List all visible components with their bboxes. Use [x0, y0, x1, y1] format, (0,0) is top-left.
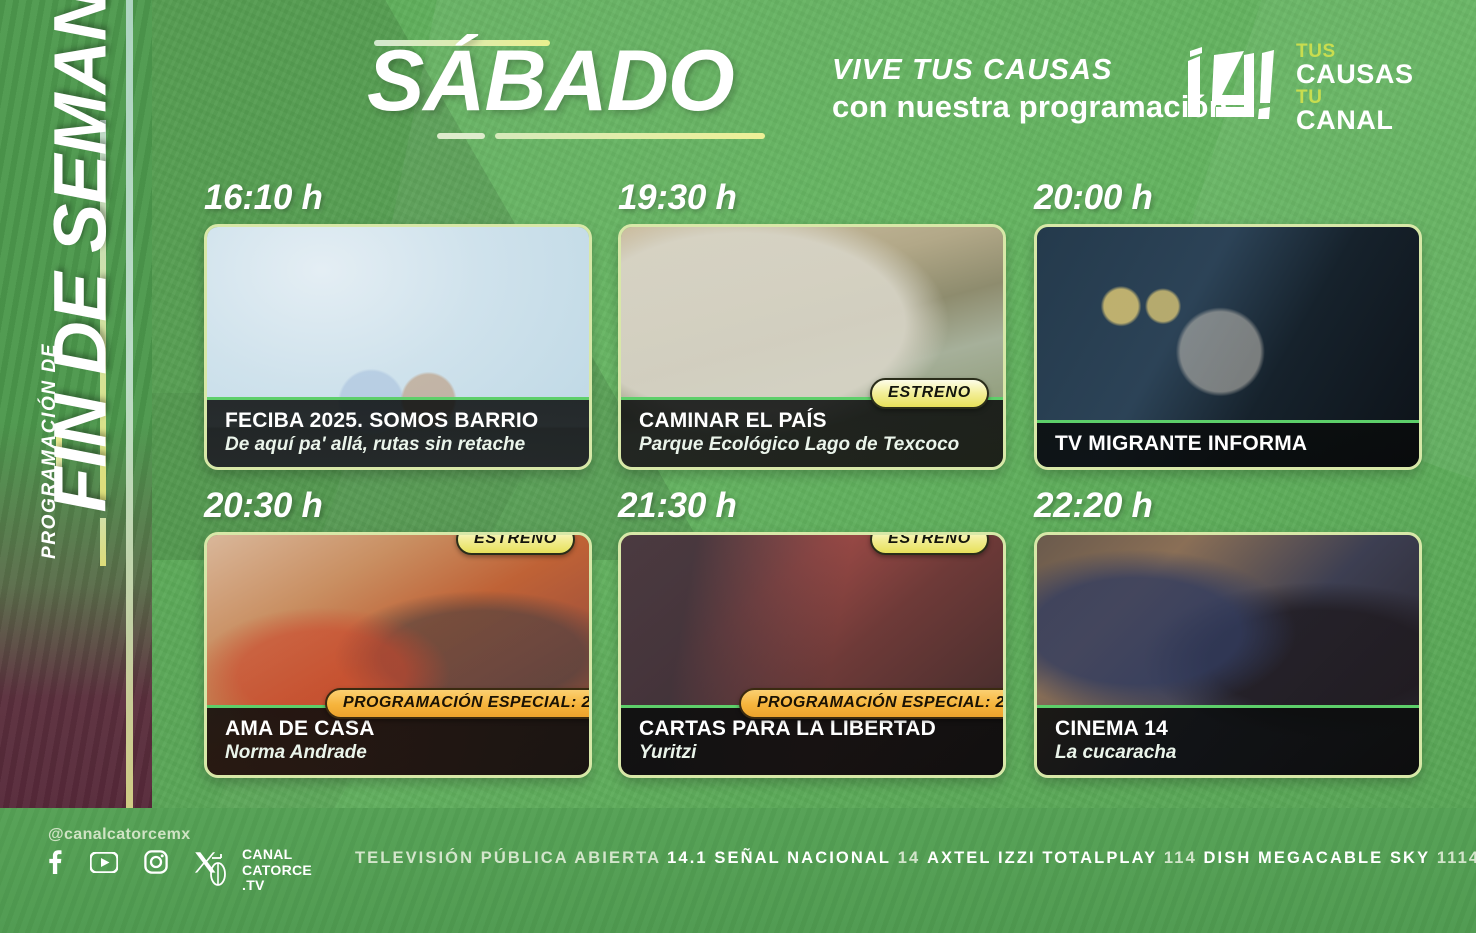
program-poster: PROGRAMACIÓN DE FIN DE SEMANA SÁBADO VIV…	[0, 0, 1476, 933]
social-handle: @canalcatorcemx	[48, 826, 191, 844]
sidebar-big-label: FIN DE SEMANA	[38, 23, 123, 813]
channel-logo: TUS CAUSAS TU CANAL	[1182, 42, 1414, 134]
website-block[interactable]: CANAL CATORCE .TV	[208, 846, 312, 895]
program-thumbnail[interactable]: FECIBA 2025. SOMOS BARRIO De aquí pa' al…	[204, 224, 592, 470]
carriers-number-1114: 1114	[1437, 849, 1476, 867]
program-subtitle: La cucaracha	[1055, 742, 1405, 764]
website-line-3: .TV	[242, 878, 312, 894]
instagram-icon[interactable]	[144, 850, 168, 874]
program-title: CINEMA 14	[1055, 717, 1405, 741]
carriers-number-14: 14	[898, 849, 921, 867]
page-title: SÁBADO	[367, 36, 734, 126]
program-time: 20:00 h	[1034, 178, 1422, 218]
program-title: FECIBA 2025. SOMOS BARRIO	[225, 409, 575, 433]
tagline-line-2: con nuestra programación	[832, 88, 1228, 127]
program-thumbnail[interactable]: CINEMA 14 La cucaracha	[1034, 532, 1422, 778]
program-titlebar: FECIBA 2025. SOMOS BARRIO De aquí pa' al…	[207, 397, 589, 467]
sidebar-weekend-banner: PROGRAMACIÓN DE FIN DE SEMANA	[0, 0, 152, 812]
estreno-badge: ESTRENO	[870, 378, 989, 409]
social-links	[44, 850, 217, 874]
program-card[interactable]: 20:00 h TV MIGRANTE INFORMA	[1034, 178, 1422, 470]
program-title: AMA DE CASA	[225, 717, 575, 741]
youtube-icon[interactable]	[90, 852, 118, 873]
logo-word-canal: CANAL	[1296, 107, 1414, 134]
tagline: VIVE TUS CAUSAS con nuestra programación	[832, 52, 1228, 127]
carriers-axtel: AXTEL IZZI TOTALPLAY	[927, 849, 1157, 867]
carriers-line: TELEVISIÓN PÚBLICA ABIERTA 14.1 SEÑAL NA…	[355, 849, 1476, 868]
program-subtitle: Yuritzi	[639, 742, 989, 764]
tagline-line-1: VIVE TUS CAUSAS	[832, 52, 1228, 88]
estreno-badge: ESTRENO	[870, 532, 989, 555]
carriers-prefix: TELEVISIÓN PÚBLICA ABIERTA	[355, 849, 660, 867]
sidebar-text-wrap: PROGRAMACIÓN DE FIN DE SEMANA	[0, 0, 152, 812]
program-time: 21:30 h	[618, 486, 1006, 526]
especial-badge: PROGRAMACIÓN ESPECIAL: 25N	[325, 688, 592, 719]
program-card[interactable]: 21:30 h ESTRENO PROGRAMACIÓN ESPECIAL: 2…	[618, 486, 1006, 778]
program-thumbnail[interactable]: ESTRENO CAMINAR EL PAÍS Parque Ecológico…	[618, 224, 1006, 470]
program-card[interactable]: 19:30 h ESTRENO CAMINAR EL PAÍS Parque E…	[618, 178, 1006, 470]
program-subtitle: Parque Ecológico Lago de Texcoco	[639, 434, 989, 456]
website-line-1: CANAL	[242, 847, 312, 863]
program-card[interactable]: 20:30 h ESTRENO PROGRAMACIÓN ESPECIAL: 2…	[204, 486, 592, 778]
program-thumbnail[interactable]: ESTRENO PROGRAMACIÓN ESPECIAL: 25N CARTA…	[618, 532, 1006, 778]
program-thumbnail[interactable]: ESTRENO PROGRAMACIÓN ESPECIAL: 25N AMA D…	[204, 532, 592, 778]
program-thumbnail[interactable]: TV MIGRANTE INFORMA	[1034, 224, 1422, 470]
carriers-number-114: 114	[1164, 849, 1197, 867]
program-time: 20:30 h	[204, 486, 592, 526]
program-titlebar: CINEMA 14 La cucaracha	[1037, 705, 1419, 775]
program-time: 16:10 h	[204, 178, 592, 218]
carriers-dish: DISH MEGACABLE SKY	[1204, 849, 1431, 867]
website-wordmark: CANAL CATORCE .TV	[242, 847, 312, 894]
mouse-pointer-icon	[208, 846, 232, 895]
estreno-badge: ESTRENO	[456, 532, 575, 555]
carriers-signal: 14.1 SEÑAL NACIONAL	[667, 849, 891, 867]
program-title: CAMINAR EL PAÍS	[639, 409, 989, 433]
program-title: CARTAS PARA LA LIBERTAD	[639, 717, 989, 741]
logo-wordmark: TUS CAUSAS TU CANAL	[1296, 42, 1414, 134]
header: SÁBADO VIVE TUS CAUSAS con nuestra progr…	[152, 0, 1476, 175]
program-subtitle: De aquí pa' allá, rutas sin retache	[225, 434, 575, 456]
logo-14-mark-icon	[1182, 45, 1282, 131]
program-subtitle: Norma Andrade	[225, 742, 575, 764]
facebook-icon[interactable]	[44, 850, 64, 874]
program-time: 22:20 h	[1034, 486, 1422, 526]
program-grid: 16:10 h FECIBA 2025. SOMOS BARRIO De aqu…	[152, 178, 1476, 808]
especial-badge: PROGRAMACIÓN ESPECIAL: 25N	[739, 688, 1006, 719]
header-rule-bottom-long	[495, 133, 765, 139]
logo-word-causas: CAUSAS	[1296, 61, 1414, 88]
website-line-2: CATORCE	[242, 863, 312, 879]
program-card[interactable]: 22:20 h CINEMA 14 La cucaracha	[1034, 486, 1422, 778]
program-time: 19:30 h	[618, 178, 1006, 218]
program-titlebar: TV MIGRANTE INFORMA	[1037, 420, 1419, 467]
program-title: TV MIGRANTE INFORMA	[1055, 432, 1405, 456]
header-rule-bottom-short	[437, 133, 485, 139]
program-card[interactable]: 16:10 h FECIBA 2025. SOMOS BARRIO De aqu…	[204, 178, 592, 470]
footer: @canalcatorcemx	[0, 808, 1476, 933]
